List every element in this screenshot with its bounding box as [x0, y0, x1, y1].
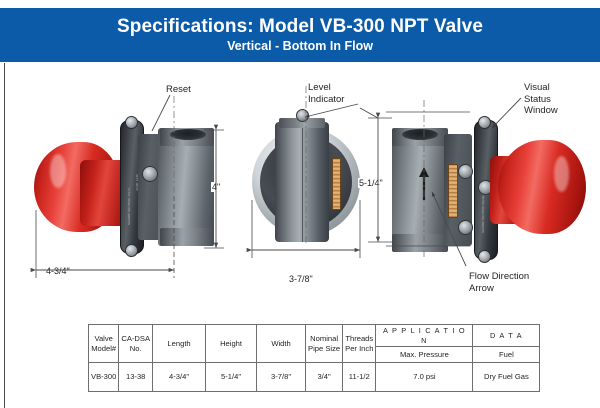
col-header-nominal-pipe-size-l1: Nominal — [310, 334, 338, 343]
callout-flow-direction-arrow-text: Flow DirectionArrow — [469, 271, 529, 294]
specification-table: Valve Model# CA-DSA No. Length Height Wi… — [88, 324, 540, 392]
col-header-ca-dsa-l2: No. — [130, 344, 142, 353]
dome-highlight — [554, 156, 569, 192]
center-end-view — [248, 104, 368, 284]
col-header-threads-per-inch-l2: Per Inch — [345, 344, 373, 353]
cell-nominal-pipe-size: 3/4" — [306, 363, 343, 392]
col-header-threads-per-inch-l1: Threads — [345, 334, 373, 343]
col-header-ca-dsa: CA-DSA No. — [119, 325, 153, 363]
collar-bolt — [478, 250, 491, 263]
level-indicator-strip — [332, 158, 341, 210]
red-dome-cover — [498, 140, 586, 234]
reset-screw — [142, 166, 158, 182]
col-header-width: Width — [257, 325, 306, 363]
collar-bolt — [125, 116, 138, 129]
col-header-nominal-pipe-size: Nominal Pipe Size — [306, 325, 343, 363]
callout-visual-status-window: VisualStatusWindow — [524, 82, 558, 117]
level-indicator-strip — [448, 164, 458, 218]
col-header-ca-dsa-l1: CA-DSA — [121, 334, 150, 343]
cell-max-pressure: 7.0 psi — [376, 363, 473, 392]
callout-reset: Reset — [166, 84, 191, 96]
page-title: Specifications: Model VB-300 NPT Valve — [117, 16, 483, 37]
col-header-valve-model: Valve Model# — [89, 325, 119, 363]
callout-visual-status-window-text: VisualStatusWindow — [524, 82, 558, 116]
col-header-valve-model-l1: Valve — [94, 334, 112, 343]
callout-level-indicator: LevelIndicator — [308, 82, 344, 105]
specification-sheet: Specifications: Model VB-300 NPT Valve V… — [0, 0, 600, 408]
dim-left-length-label: 4-3/4" — [45, 266, 71, 276]
body-screw — [458, 220, 473, 235]
sub-header-max-pressure: Max. Pressure — [376, 347, 473, 363]
left-side-view: SEISMIC SHUTOFF CA-TL 41300 1340 — [20, 102, 220, 287]
hex-end-bottom — [160, 228, 214, 246]
cell-ca-dsa-no: 13-38 — [119, 363, 153, 392]
table-header-row: Valve Model# CA-DSA No. Length Height Wi… — [89, 325, 540, 347]
pipe-bore-opening — [170, 129, 206, 140]
cell-threads-per-inch: 11-1/2 — [343, 363, 376, 392]
page-subtitle: Vertical - Bottom In Flow — [227, 39, 373, 54]
dim-center-width-label: 3-7/8" — [288, 274, 314, 284]
collar-bolt — [125, 244, 138, 257]
callout-flow-direction-arrow: Flow DirectionArrow — [469, 271, 529, 294]
right-side-view: SEISMIC SHUTOFF VALVE — [386, 102, 586, 292]
barrel-seam — [302, 122, 303, 242]
col-header-nominal-pipe-size-l2: Pipe Size — [308, 344, 340, 353]
dim-center-height-label: 5-1/4" — [358, 178, 384, 188]
table-row: VB-300 13-38 4-3/4" 5-1/4" 3-7/8" 3/4" 1… — [89, 363, 540, 392]
collar-bolt — [478, 116, 491, 129]
header-band: Specifications: Model VB-300 NPT Valve V… — [0, 8, 600, 62]
group-header-application: A P P L I C A T I O N — [376, 325, 473, 347]
group-header-data: D A T A — [473, 325, 540, 347]
collar-text: SEISMIC SHUTOFF CA-TL — [128, 187, 131, 225]
collar-text: SEISMIC SHUTOFF VALVE — [482, 196, 485, 233]
dim-left-height-label: 4" — [211, 182, 221, 192]
hex-end-bottom — [392, 234, 448, 252]
col-header-threads-per-inch: Threads Per Inch — [343, 325, 376, 363]
sub-header-fuel: Fuel — [473, 347, 540, 363]
dome-highlight — [50, 154, 66, 188]
cell-valve-model: VB-300 — [89, 363, 119, 392]
col-header-valve-model-l2: Model# — [91, 344, 116, 353]
cell-height: 5-1/4" — [206, 363, 257, 392]
cell-width: 3-7/8" — [257, 363, 306, 392]
body-screw — [458, 164, 473, 179]
callout-level-indicator-text: LevelIndicator — [308, 82, 344, 105]
cell-length: 4-3/4" — [153, 363, 206, 392]
cell-fuel: Dry Fuel Gas — [473, 363, 540, 392]
col-header-height: Height — [206, 325, 257, 363]
col-header-length: Length — [153, 325, 206, 363]
pipe-bore-opening — [402, 129, 438, 140]
level-indicator-screw — [296, 109, 309, 122]
diagram-area: SEISMIC SHUTOFF CA-TL 41300 1340 4" 4-3/… — [0, 62, 600, 320]
